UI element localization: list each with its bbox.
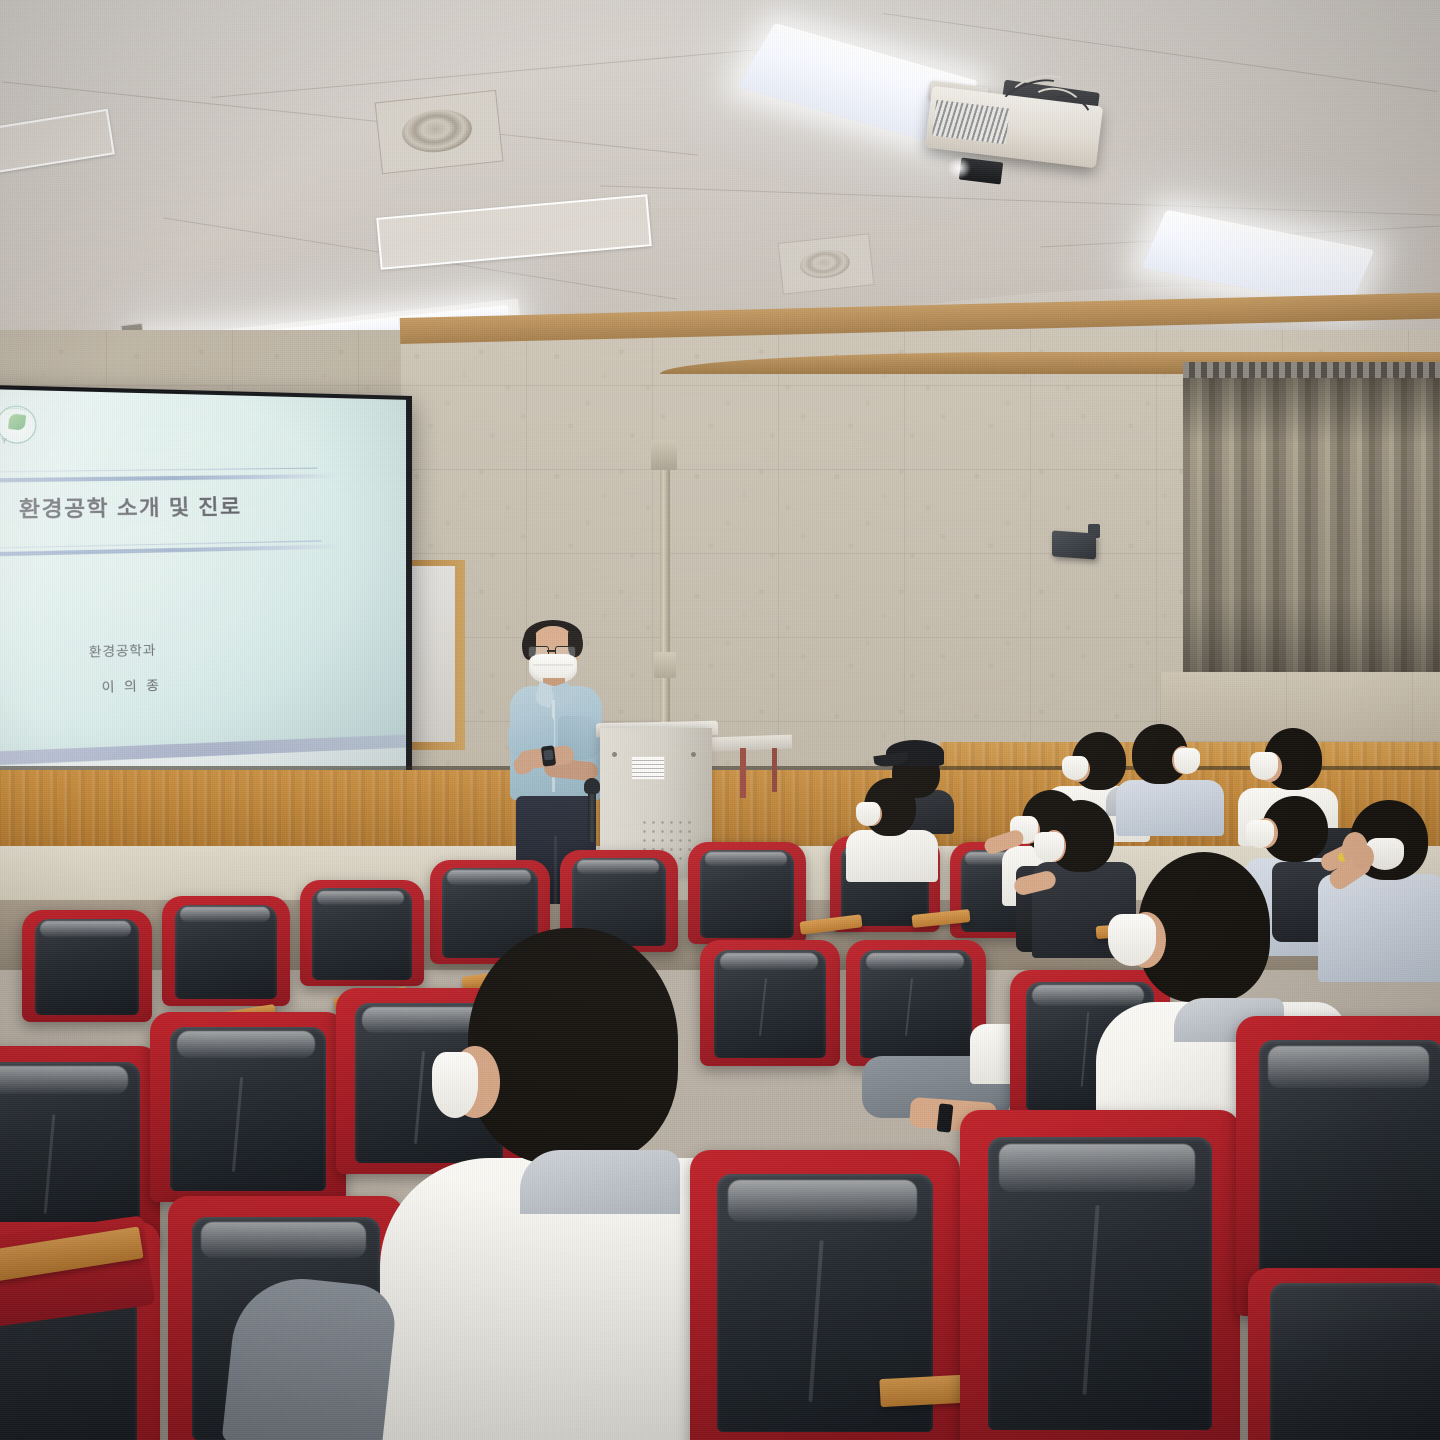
projection-screen[interactable]: 학교 U UNIVERSITY 환경공학 소개 및 진로 환경공학과 이 의 종 [0,384,412,792]
seat-gloss [866,953,964,971]
student-body [846,830,938,882]
whiteboard [411,566,455,742]
face-mask-icon [1108,914,1156,966]
ceiling-vent [376,194,651,270]
curtain-rail [1183,362,1440,378]
seat-foreground-right[interactable] [1248,1268,1440,1440]
face-mask-icon [856,802,880,826]
seat-gloss [728,1180,917,1222]
mask-fold [533,664,573,666]
conduit-junction-box [651,440,677,470]
university-logo: 학교 U UNIVERSITY [0,403,63,452]
lectern-fastener [612,752,617,757]
seat-rear-panel [1270,1283,1440,1440]
microphone-stand [588,786,596,842]
lectern-fastener [691,752,696,757]
face-mask-icon [1250,752,1278,780]
seat-gloss [705,852,788,866]
seat-row-mid[interactable] [162,896,290,1006]
face-mask-icon [1062,756,1088,780]
speaker-icon [1052,530,1096,559]
slide-title: 환경공학 소개 및 진로 [18,490,336,525]
trouser-seam [554,836,557,904]
seat-gloss [577,860,660,874]
desk-leg [740,748,746,798]
fitness-band-icon [937,1103,954,1132]
seat-gloss [0,1066,128,1094]
logo-english-text: U UNIVERSITY [0,437,8,446]
lecture-hall-photo: 학교 U UNIVERSITY 환경공학 소개 및 진로 환경공학과 이 의 종 [0,0,1440,1440]
back-left-student [846,772,938,880]
ceiling-vent [0,109,115,174]
seat-gloss [317,891,404,906]
microphone-icon [584,778,600,794]
face-mask-icon [1174,748,1200,774]
seat-foreground-right[interactable] [960,1110,1240,1440]
student-head [468,928,678,1164]
watch-face [543,749,553,760]
glasses-bridge [547,650,555,652]
seat-gloss [177,1031,314,1058]
desk-leg [772,748,777,792]
face-mask-icon [1034,832,1064,862]
curtain-shading [1183,374,1440,692]
slide-rule-top [0,474,338,483]
slide-presenter-name: 이 의 종 [101,674,161,696]
projector-lens-glow [948,158,970,178]
slide-department: 환경공학과 [88,639,156,661]
seat-gloss [180,907,270,922]
seat-gloss [40,921,131,937]
student-collar [520,1150,680,1214]
slide-surface: 학교 U UNIVERSITY 환경공학 소개 및 진로 환경공학과 이 의 종 [0,388,406,781]
seat-gloss [1268,1046,1429,1088]
face-mask-icon [1246,820,1274,848]
slide-rule-thin-top [0,468,317,474]
ceiling-seam [211,43,829,98]
seat-gloss [999,1144,1195,1192]
conduit-junction-box [654,652,676,678]
lectern-label-sticker [631,756,665,780]
window-niche [1183,362,1440,692]
seat-row-mid[interactable] [22,910,152,1022]
face-mask-icon [432,1052,478,1118]
ceiling-seam [600,185,1440,215]
seat-gloss [447,870,531,885]
side-desk [712,735,792,752]
seat-gloss [201,1222,366,1258]
seat-front-left[interactable] [150,1012,346,1202]
